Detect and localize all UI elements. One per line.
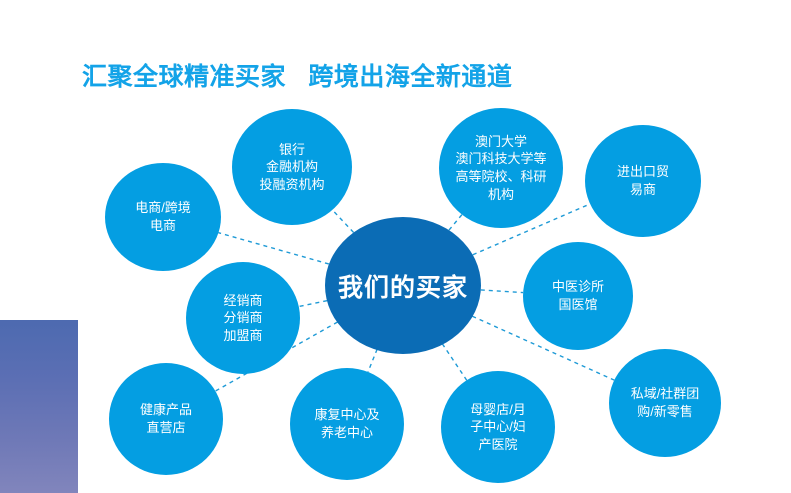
node-label: 健康产品 直营店 (136, 401, 196, 436)
connector-hub-to-distributors (299, 301, 327, 307)
node-universities[interactable]: 澳门大学 澳门科技大学等 高等院校、科研 机构 (439, 108, 563, 228)
node-label: 银行 金融机构 投融资机构 (255, 141, 328, 194)
node-label: 私域/社群团 购/新零售 (627, 385, 704, 420)
node-label: 经销商 分销商 加盟商 (219, 292, 266, 345)
node-ecommerce[interactable]: 电商/跨境 电商 (105, 163, 221, 271)
node-label: 中医诊所 国医馆 (548, 278, 608, 313)
node-distributors[interactable]: 经销商 分销商 加盟商 (186, 262, 300, 374)
connector-hub-to-universities (449, 215, 462, 230)
connector-hub-to-rehab-elderly (368, 349, 377, 372)
node-label: 康复中心及 养老中心 (310, 406, 383, 441)
hub-label: 我们的买家 (338, 268, 468, 304)
node-maternity[interactable]: 母婴店/月 子中心/妇 产医院 (441, 371, 555, 483)
node-banking[interactable]: 银行 金融机构 投融资机构 (232, 109, 352, 225)
connector-hub-to-banking (332, 210, 353, 233)
node-private-domain[interactable]: 私域/社群团 购/新零售 (609, 349, 721, 457)
node-health-store[interactable]: 健康产品 直营店 (109, 363, 223, 475)
node-label: 电商/跨境 电商 (131, 199, 195, 234)
node-import-export[interactable]: 进出口贸 易商 (585, 125, 701, 237)
connector-hub-to-maternity (442, 344, 466, 380)
node-label: 澳门大学 澳门科技大学等 高等院校、科研 机构 (451, 133, 550, 203)
node-label: 母婴店/月 子中心/妇 产医院 (466, 401, 530, 454)
connector-hub-to-ecommerce (218, 233, 328, 264)
hub-node[interactable]: 我们的买家 (325, 217, 481, 354)
node-rehab-elderly[interactable]: 康复中心及 养老中心 (290, 368, 404, 480)
connector-hub-to-tcm-clinic (481, 290, 523, 293)
slide-canvas: 汇聚全球精准买家 跨境出海全新通道 电商/跨境 电商银行 金融机构 投融资机构澳… (0, 0, 791, 493)
buyer-network-diagram: 电商/跨境 电商银行 金融机构 投融资机构澳门大学 澳门科技大学等 高等院校、科… (0, 0, 791, 493)
node-tcm-clinic[interactable]: 中医诊所 国医馆 (523, 242, 633, 350)
node-label: 进出口贸 易商 (613, 163, 673, 198)
